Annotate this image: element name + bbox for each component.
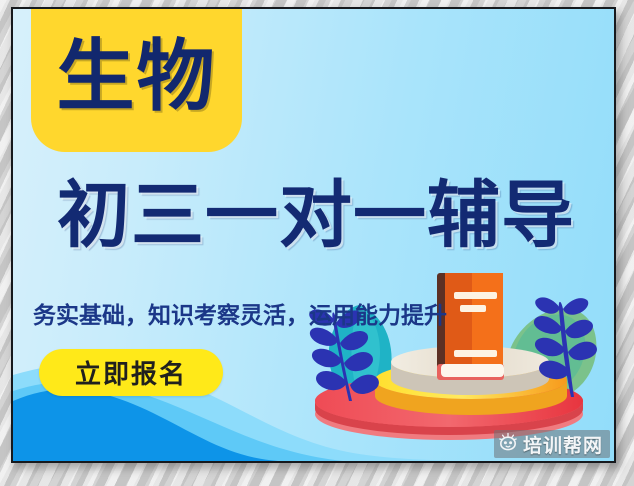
open-book — [437, 273, 504, 380]
subject-badge: 生物 — [31, 7, 242, 152]
watermark-text: 培训帮网 — [523, 431, 603, 458]
course-promo-banner: 生物 初三一对一辅导 务实基础，知识考察灵活，运用能力提升 立即报名 — [11, 7, 616, 463]
book-line-3 — [454, 350, 497, 357]
book-line-1 — [454, 292, 497, 299]
enroll-now-button[interactable]: 立即报名 — [39, 349, 223, 396]
enroll-now-label: 立即报名 — [75, 354, 187, 391]
site-watermark: 培训帮网 — [494, 430, 610, 458]
book-line-2 — [460, 305, 486, 312]
sun-face-icon — [498, 432, 518, 456]
banner-headline: 初三一对一辅导 — [21, 179, 611, 253]
banner-subtitle: 务实基础，知识考察灵活，运用能力提升 — [33, 296, 447, 330]
subject-badge-label: 生物 — [56, 38, 216, 116]
